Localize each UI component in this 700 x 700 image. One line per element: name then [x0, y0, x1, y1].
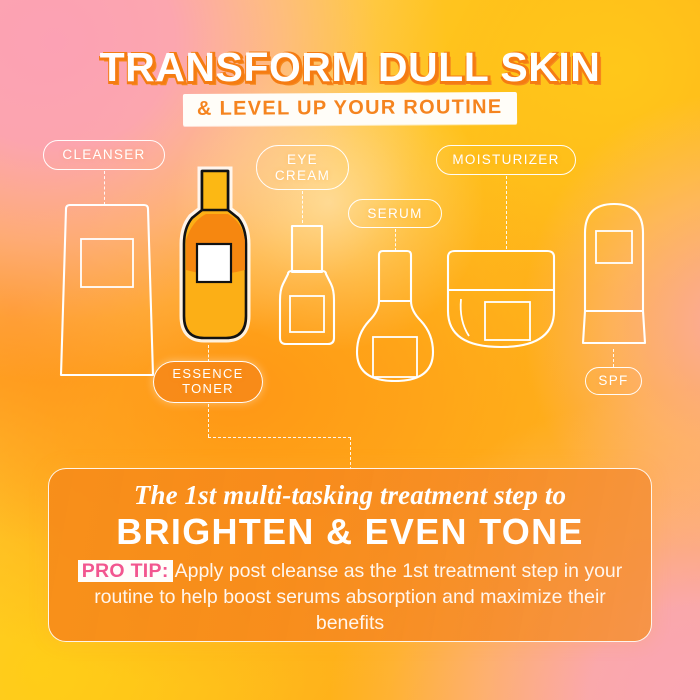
- bottle-icon: [172, 166, 258, 351]
- routine-label-serum[interactable]: SERUM: [348, 199, 442, 228]
- subtitle-banner-wrap: & LEVEL UP YOUR ROUTINE: [0, 93, 700, 125]
- connector-cleanser: [104, 171, 105, 205]
- connector-moisturizer: [506, 176, 507, 249]
- pro-tip-badge: PRO TIP:: [78, 560, 173, 582]
- connector-eye-cream: [302, 191, 303, 223]
- routine-label-eye-cream[interactable]: EYE CREAM: [256, 145, 349, 190]
- routine-label-moisturizer[interactable]: MOISTURIZER: [436, 145, 576, 175]
- highlight-panel: The 1st multi-tasking treatment step to …: [48, 468, 652, 642]
- routine-label-essence-toner[interactable]: ESSENCE TONER: [153, 361, 263, 403]
- connector-essence-toner-across: [208, 437, 351, 438]
- panel-script-line: The 1st multi-tasking treatment step to: [49, 481, 651, 511]
- jar-icon: [442, 247, 560, 357]
- pro-tip-text: Apply post cleanse as the 1st treatment …: [94, 560, 622, 634]
- essence-line-1: ESSENCE: [172, 366, 243, 381]
- pro-tip: PRO TIP:Apply post cleanse as the 1st tr…: [49, 559, 651, 637]
- routine-label-text: EYE CREAM: [275, 152, 330, 182]
- routine-label-text: SERUM: [367, 206, 422, 221]
- routine-label-text: SPF: [598, 373, 628, 388]
- routine-label-text: CLEANSER: [62, 147, 145, 162]
- connector-essence-toner-down: [208, 404, 209, 437]
- eye-cream-line-1: EYE: [287, 152, 318, 167]
- connector-essence-toner-end: [350, 437, 351, 470]
- page-subtitle: & LEVEL UP YOUR ROUTINE: [183, 92, 517, 126]
- routine-label-cleanser[interactable]: CLEANSER: [43, 140, 165, 170]
- tube-icon: [52, 203, 162, 383]
- routine-label-spf[interactable]: SPF: [585, 367, 642, 395]
- dropper-icon: [353, 249, 437, 390]
- routine-label-text: ESSENCE TONER: [172, 367, 243, 396]
- connector-serum: [395, 229, 396, 251]
- essence-line-2: TONER: [182, 381, 234, 396]
- skincare-routine-infographic: TRANSFORM DULL SKIN & LEVEL UP YOUR ROUT…: [0, 0, 700, 700]
- small-jar-icon: [276, 222, 338, 352]
- spf-tube-icon: [575, 199, 653, 354]
- page-title: TRANSFORM DULL SKIN: [0, 44, 700, 91]
- eye-cream-line-2: CREAM: [275, 168, 330, 183]
- panel-headline: BRIGHTEN & EVEN TONE: [49, 512, 651, 552]
- routine-label-text: MOISTURIZER: [452, 152, 559, 167]
